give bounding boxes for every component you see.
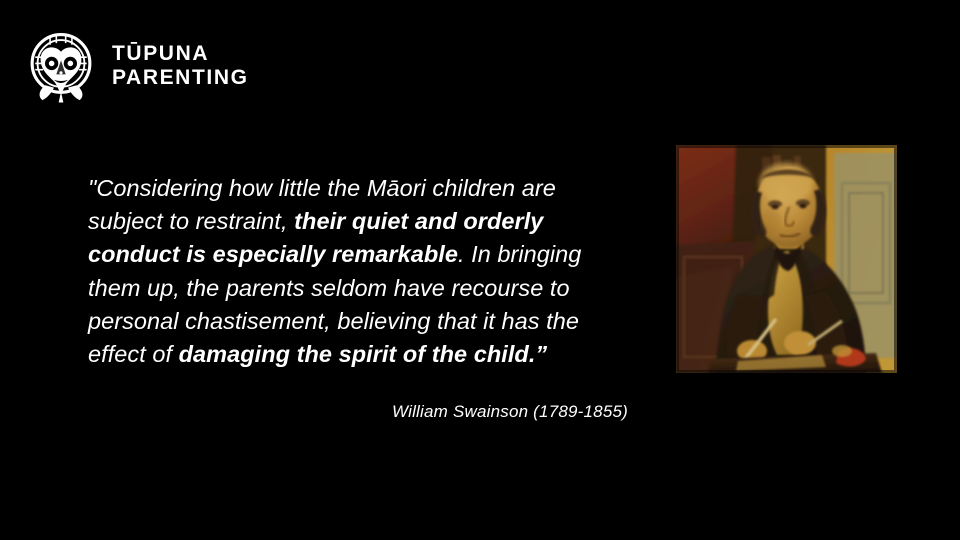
quote-attribution: William Swainson (1789-1855) [88,402,628,422]
quote-block: "Considering how little the Māori childr… [88,172,600,371]
brand-line-1: TŪPUNA [112,42,249,66]
brand-wordmark: TŪPUNA PARENTING [112,42,249,89]
quote-segment-4-bold: damaging the spirit of the child.” [179,341,548,367]
quote-text: "Considering how little the Māori childr… [88,172,600,371]
slide-canvas: TŪPUNA PARENTING "Considering how little… [0,0,960,540]
portrait-image [676,145,897,373]
maori-tiki-mask-icon [22,26,100,104]
brand-line-2: PARENTING [112,66,249,90]
brand-lockup: TŪPUNA PARENTING [22,26,249,104]
